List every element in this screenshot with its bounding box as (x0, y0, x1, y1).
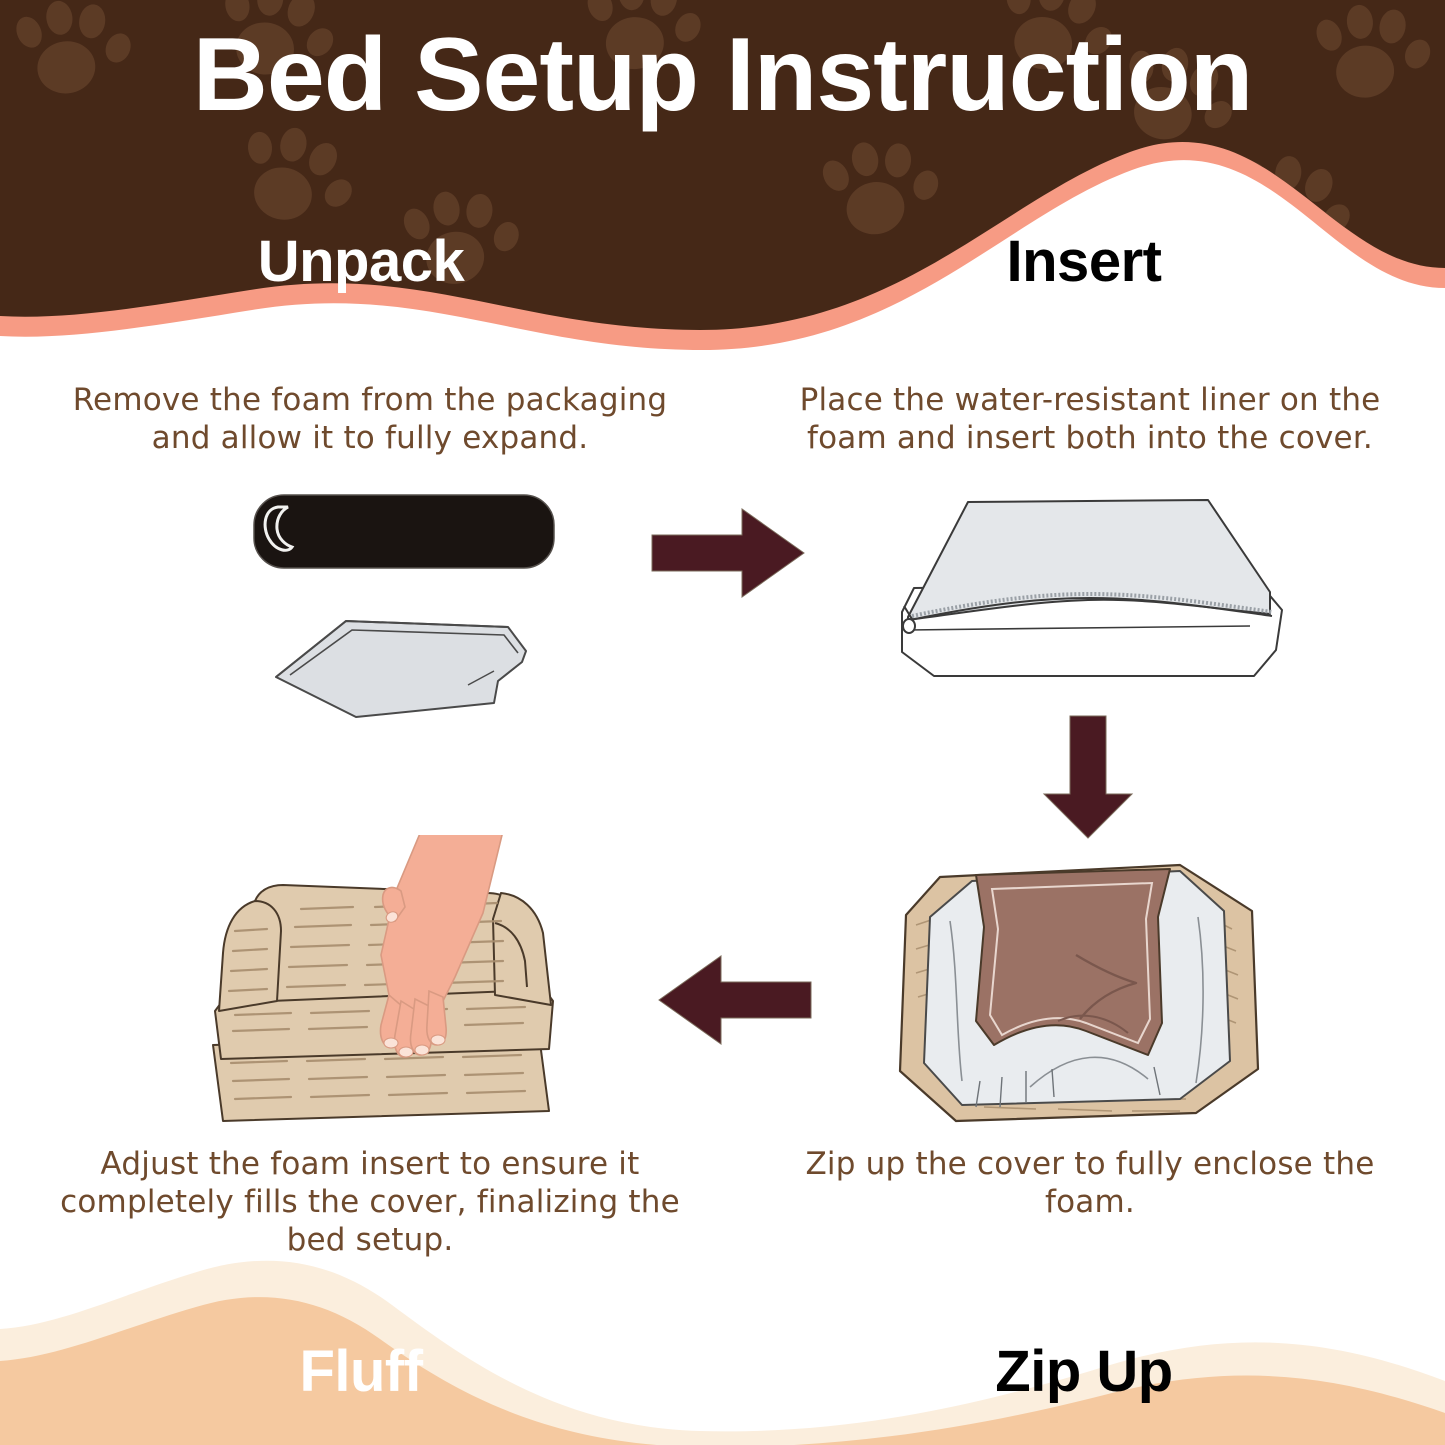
folded-liner-icon (276, 621, 526, 717)
caption-insert: Place the water-resistant liner on the f… (760, 382, 1420, 458)
rolled-foam-icon (254, 495, 554, 568)
step-title-fluff: Fluff (0, 1338, 722, 1405)
step-title-zip-up: Zip Up (723, 1338, 1445, 1405)
illustration-open-cover-liner-foam (880, 855, 1270, 1125)
bed-setup-instruction-poster: Bed Setup Instruction Unpack Insert Remo… (0, 0, 1445, 1445)
page-title: Bed Setup Instruction (0, 16, 1445, 136)
step-title-insert: Insert (723, 228, 1445, 295)
arrow-insert-to-zipup (1028, 712, 1148, 842)
step-title-unpack: Unpack (0, 228, 722, 295)
illustration-zippered-cover (878, 480, 1298, 690)
foam-insert (976, 869, 1170, 1055)
illustration-hand-pressing-bed (205, 835, 635, 1125)
bed-left-bolster (219, 901, 281, 1011)
arrow-zipup-to-fluff (655, 950, 815, 1050)
caption-zip-up: Zip up the cover to fully enclose the fo… (760, 1146, 1420, 1222)
caption-fluff: Adjust the foam insert to ensure it comp… (40, 1146, 700, 1259)
arrow-unpack-to-insert (648, 503, 808, 603)
caption-unpack: Remove the foam from the packaging and a… (40, 382, 700, 458)
illustration-rolled-foam-and-liner (236, 485, 586, 725)
